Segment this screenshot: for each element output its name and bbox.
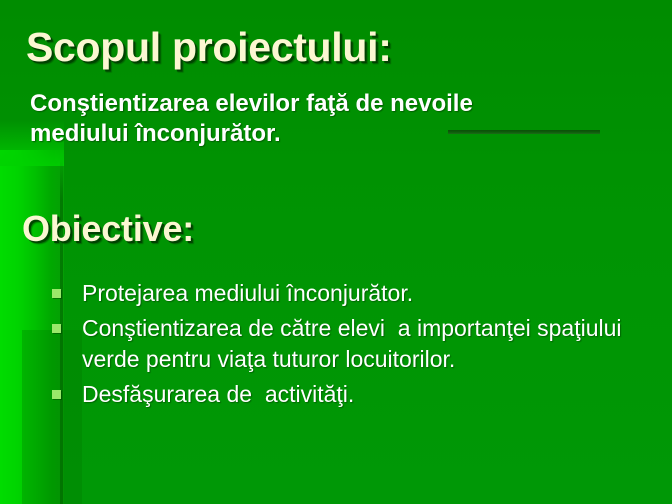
list-item: Protejarea mediului înconjurător. — [50, 278, 650, 308]
square-bullet-icon — [52, 390, 61, 399]
list-item-label: Protejarea mediului înconjurător. — [82, 278, 650, 308]
square-bullet-icon — [52, 324, 61, 333]
list-item: Conştientizarea de către elevi a importa… — [50, 313, 650, 374]
slide-subtitle: Conştientizarea elevilor faţă de nevoile… — [30, 89, 500, 150]
presentation-slide: Scopul proiectului: Conştientizarea elev… — [0, 0, 672, 504]
list-item: Desfăşurarea de activităţi. — [50, 379, 650, 409]
slide-title: Scopul proiectului: — [26, 24, 392, 71]
slide-content: Scopul proiectului: Conştientizarea elev… — [0, 0, 672, 504]
divider-line — [448, 130, 600, 134]
square-bullet-icon — [52, 289, 61, 298]
list-item-label: Desfăşurarea de activităţi. — [82, 379, 650, 409]
section-heading-objectives: Obiective: — [22, 208, 194, 250]
list-item-label: Conştientizarea de către elevi a importa… — [82, 313, 650, 374]
objectives-bullet-list: Protejarea mediului înconjurător. Conşti… — [50, 278, 650, 414]
